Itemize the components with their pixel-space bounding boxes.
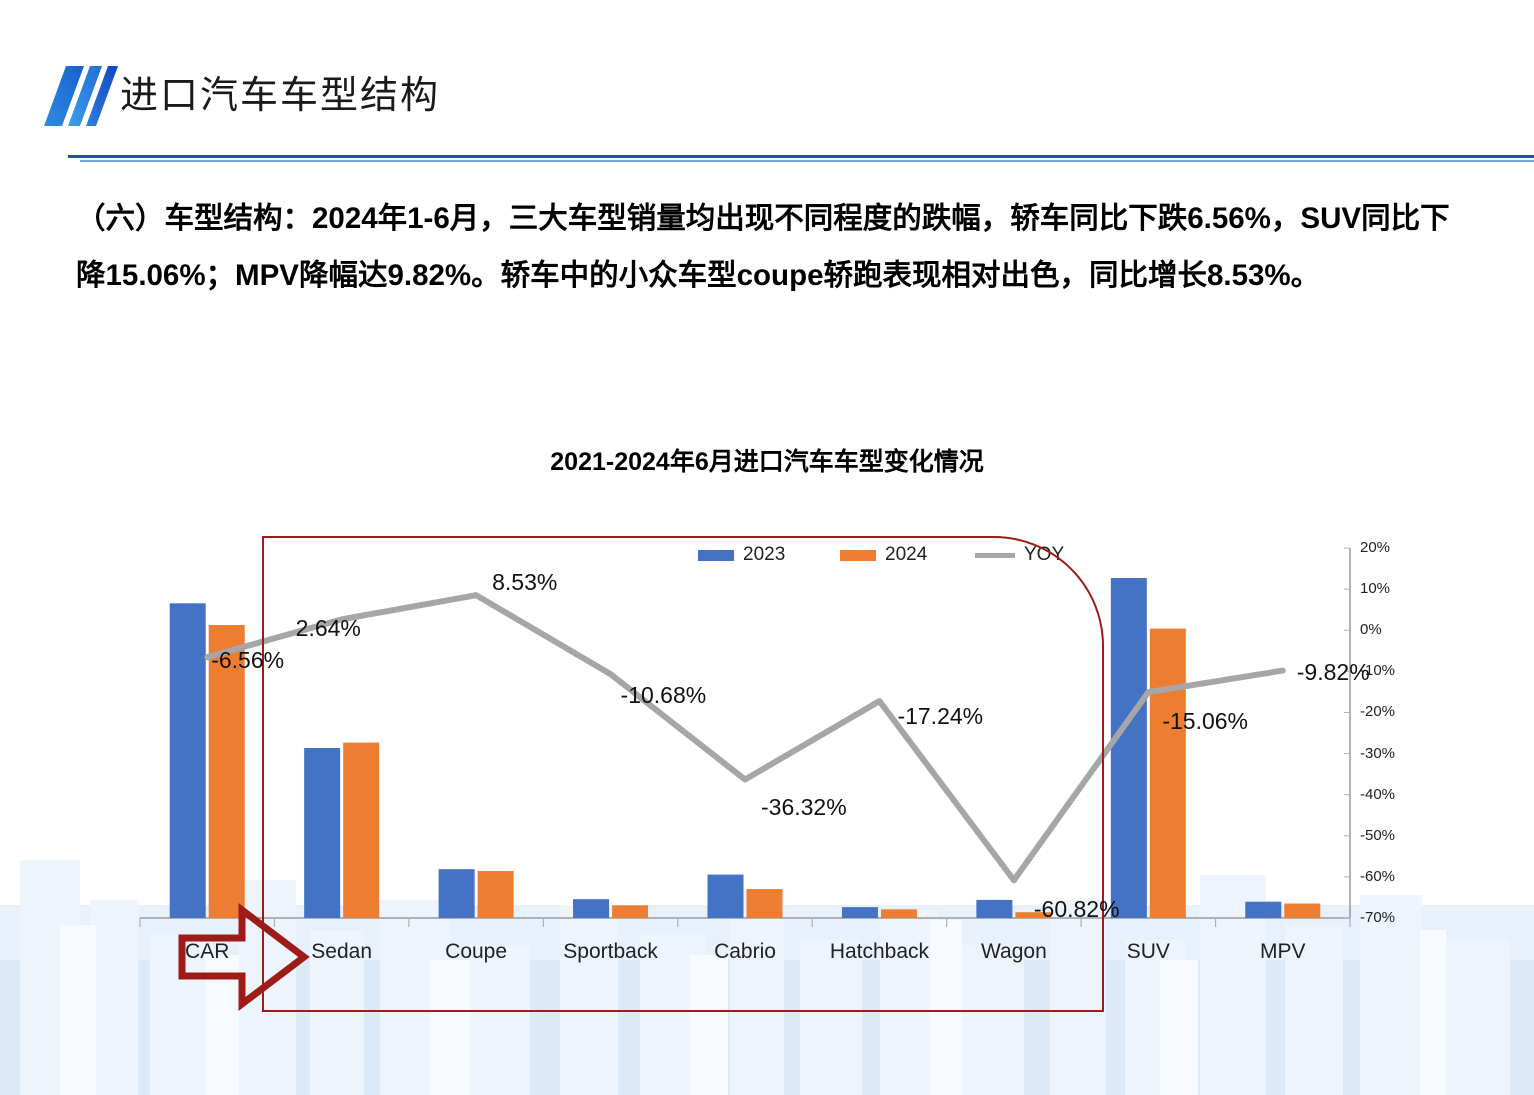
y-axis-tick-10pct: 10% (1360, 580, 1390, 597)
bar-suv-2024 (1150, 629, 1186, 918)
y-axis-tick-neg70pct: -70% (1360, 909, 1395, 926)
bar-sportback-2024 (612, 905, 648, 918)
bar-coupe-2024 (478, 871, 514, 918)
y-axis-tick-0pct: 0% (1360, 621, 1382, 638)
yoy-data-label-hatchback: -17.24% (897, 703, 983, 730)
y-axis-tick-neg40pct: -40% (1360, 786, 1395, 803)
bar-wagon-2023 (976, 900, 1012, 918)
bar-suv-2023 (1111, 578, 1147, 918)
chart-title: 2021-2024年6月进口汽车车型变化情况 (0, 442, 1534, 478)
three-slash-logo-icon (22, 60, 118, 132)
bar-coupe-2023 (439, 869, 475, 918)
legend-label-yoy: YOY (1024, 544, 1064, 565)
legend-item-2023: 2023 (698, 544, 785, 566)
car-highlight-arrow-icon (178, 902, 310, 1012)
y-axis-tick-neg60pct: -60% (1360, 868, 1395, 885)
header-divider (0, 154, 1534, 164)
bar-mpv-2023 (1245, 902, 1281, 918)
yoy-data-label-car: -6.56% (211, 647, 284, 674)
bar-sedan-2024 (343, 743, 379, 918)
yoy-data-label-mpv: -9.82% (1297, 659, 1370, 686)
bar-sedan-2023 (304, 748, 340, 918)
yoy-data-label-coupe: 8.53% (492, 569, 557, 596)
bar-cabrio-2024 (747, 889, 783, 918)
x-axis-label-mpv: MPV (1203, 940, 1363, 964)
legend-item-yoy: YOY (975, 544, 1064, 566)
yoy-data-label-suv: -15.06% (1162, 708, 1248, 735)
legend-swatch-2024 (840, 550, 876, 561)
legend-item-2024: 2024 (840, 544, 927, 566)
yoy-data-label-wagon: -60.82% (1034, 896, 1120, 923)
page-header: 进口汽车车型结构 (0, 42, 1534, 142)
legend-label-2024: 2024 (885, 544, 927, 565)
bar-hatchback-2024 (881, 909, 917, 918)
yoy-data-label-cabrio: -36.32% (761, 794, 847, 821)
legend-swatch-2023 (698, 550, 734, 561)
y-axis-tick-neg30pct: -30% (1360, 745, 1395, 762)
body-paragraph: （六）车型结构：2024年1-6月，三大车型销量均出现不同程度的跌幅，轿车同比下… (76, 190, 1476, 304)
bar-car-2023 (170, 603, 206, 918)
yoy-data-label-sedan: 2.64% (296, 615, 361, 642)
bar-mpv-2024 (1284, 904, 1320, 918)
page-title: 进口汽车车型结构 (120, 64, 440, 119)
y-axis-tick-neg50pct: -50% (1360, 827, 1395, 844)
bar-sportback-2023 (573, 899, 609, 918)
y-axis-tick-neg20pct: -20% (1360, 703, 1395, 720)
bar-hatchback-2023 (842, 907, 878, 918)
legend-swatch-yoy (975, 553, 1015, 558)
y-axis-tick-20pct: 20% (1360, 539, 1390, 556)
legend-label-2023: 2023 (743, 544, 785, 565)
bar-cabrio-2023 (708, 875, 744, 918)
yoy-data-label-sportback: -10.68% (621, 682, 707, 709)
